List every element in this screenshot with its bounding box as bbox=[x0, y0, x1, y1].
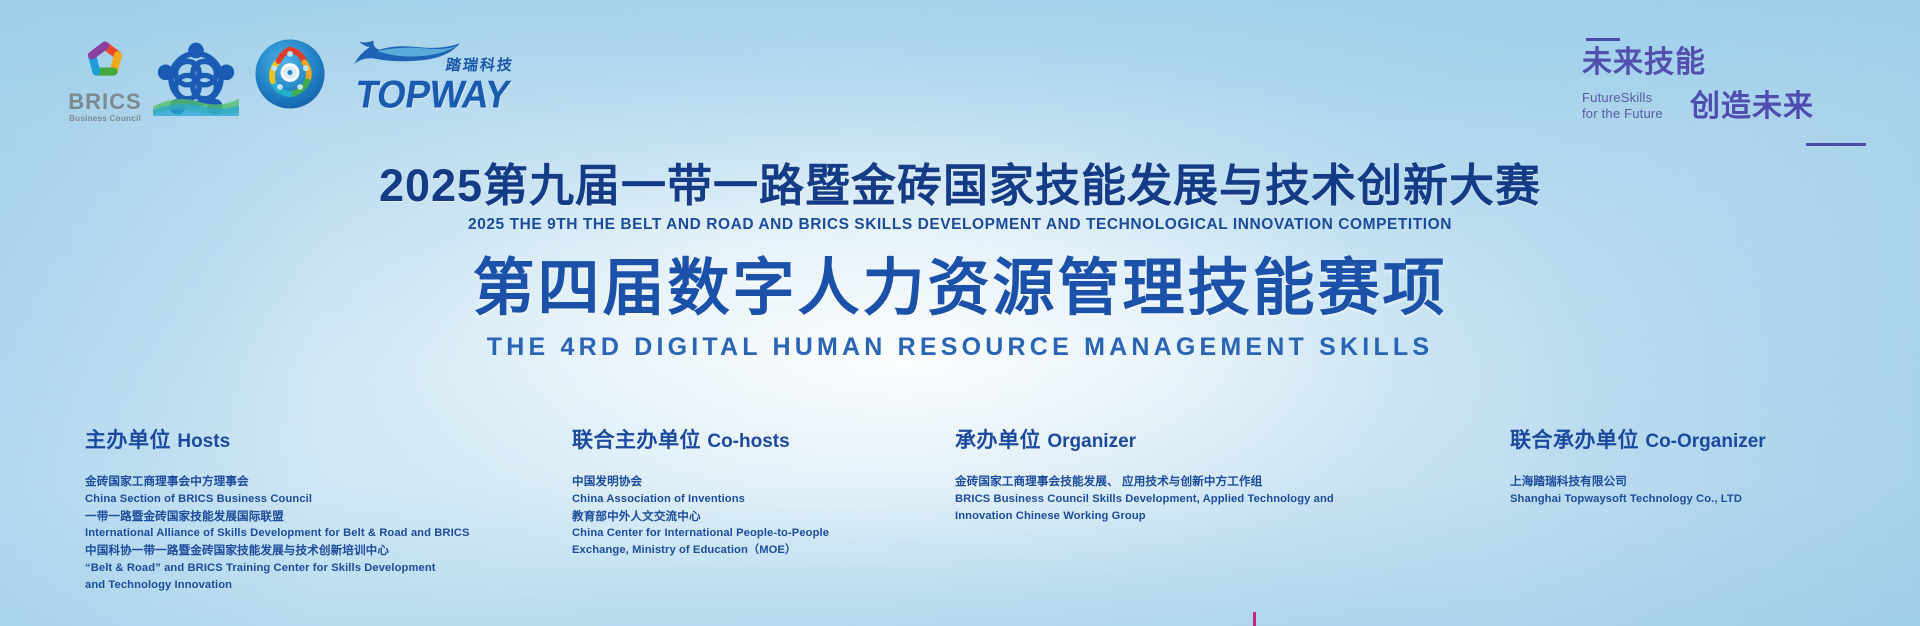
organizer-lines: 金砖国家工商理事会技能发展、 应用技术与创新中方工作组 BRICS Busine… bbox=[955, 473, 1385, 525]
organizer-line: 上海踏瑞科技有限公司 bbox=[1510, 473, 1890, 491]
subtitle-block: 第四届数字人力资源管理技能赛项 THE 4RD DIGITAL HUMAN RE… bbox=[0, 255, 1920, 362]
organizer-heading-en: Co-Organizer bbox=[1645, 431, 1765, 452]
brics-business-council-logo: BRICS Business Council bbox=[68, 38, 142, 123]
organizer-line: Shanghai Topwaysoft Technology Co., LTD bbox=[1510, 491, 1890, 508]
organizer-line: 教育部中外人文交流中心 bbox=[572, 508, 912, 526]
interlocking-rings-emblem-icon bbox=[153, 38, 239, 116]
topway-chinese-name: 踏瑞科技 bbox=[445, 54, 516, 75]
organizer-lines: 金砖国家工商理事会中方理事会 China Section of BRICS Bu… bbox=[85, 473, 545, 594]
brics-subtitle: Business Council bbox=[69, 115, 141, 123]
organizer-line: 金砖国家工商理事会技能发展、 应用技术与创新中方工作组 bbox=[955, 473, 1385, 491]
organizer-line: 金砖国家工商理事会中方理事会 bbox=[85, 473, 545, 491]
slogan-rule-top bbox=[1586, 38, 1620, 41]
main-title-chinese: 2025第九届一带一路暨金砖国家技能发展与技术创新大赛 bbox=[0, 162, 1920, 209]
organizer-line: BRICS Business Council Skills Developmen… bbox=[955, 491, 1385, 508]
organizer-lines: 中国发明协会 China Association of Inventions 教… bbox=[572, 473, 912, 559]
organizer-line: International Alliance of Skills Develop… bbox=[85, 525, 545, 542]
organizer-heading-en: Organizer bbox=[1047, 431, 1136, 452]
slogan-english-line-2: for the Future bbox=[1582, 106, 1663, 122]
slogan-english: FutureSkills for the Future bbox=[1582, 90, 1663, 123]
organizer-heading-en: Co-hosts bbox=[707, 431, 789, 452]
organizer-line: China Center for International People-to… bbox=[572, 525, 912, 542]
skills-alliance-emblem-logo bbox=[250, 38, 330, 110]
topway-wordmark: TOPWAY bbox=[353, 73, 513, 117]
organizer-line: 中国科协一带一路暨金砖国家技能发展与技术创新培训中心 bbox=[85, 542, 545, 560]
organizer-line: China Association of Inventions bbox=[572, 491, 912, 508]
organizer-heading: 联合主办单位 Co-hosts bbox=[572, 430, 912, 451]
organizer-line: and Technology Innovation bbox=[85, 577, 545, 594]
organizer-heading: 承办单位 Organizer bbox=[955, 430, 1385, 451]
brics-star-icon bbox=[78, 38, 132, 90]
competition-banner: BRICS Business Council bbox=[0, 0, 1920, 626]
slogan-chinese-line-2: 创造未来 bbox=[1690, 92, 1814, 122]
organizer-heading: 主办单位 Hosts bbox=[85, 430, 545, 451]
bottom-accent-tick bbox=[1253, 612, 1256, 626]
organizer-line: 一带一路暨金砖国家技能发展国际联盟 bbox=[85, 508, 545, 526]
organizer-heading-cn: 联合主办单位 bbox=[572, 429, 701, 452]
brics-wordmark: BRICS bbox=[68, 91, 141, 113]
main-title-english: 2025 THE 9TH THE BELT AND ROAD AND BRICS… bbox=[0, 216, 1920, 234]
organizer-line: Innovation Chinese Working Group bbox=[955, 508, 1385, 525]
organizer-column-co-hosts: 联合主办单位 Co-hosts 中国发明协会 China Association… bbox=[572, 430, 912, 559]
organizer-lines: 上海踏瑞科技有限公司 Shanghai Topwaysoft Technolog… bbox=[1510, 473, 1890, 508]
invention-association-logo bbox=[152, 38, 240, 116]
organizer-heading-en: Hosts bbox=[177, 431, 230, 452]
logo-row: BRICS Business Council bbox=[68, 38, 516, 130]
organizer-line: China Section of BRICS Business Council bbox=[85, 491, 545, 508]
subtitle-english: THE 4RD DIGITAL HUMAN RESOURCE MANAGEMEN… bbox=[0, 333, 1920, 362]
organizer-column-hosts: 主办单位 Hosts 金砖国家工商理事会中方理事会 China Section … bbox=[85, 430, 545, 594]
organizer-column-organizer: 承办单位 Organizer 金砖国家工商理事会技能发展、 应用技术与创新中方工… bbox=[955, 430, 1385, 525]
organizer-column-co-organizer: 联合承办单位 Co-Organizer 上海踏瑞科技有限公司 Shanghai … bbox=[1510, 430, 1890, 508]
organizer-heading-cn: 主办单位 bbox=[85, 429, 171, 452]
organizer-heading-cn: 联合承办单位 bbox=[1510, 429, 1639, 452]
subtitle-chinese: 第四届数字人力资源管理技能赛项 bbox=[0, 255, 1920, 323]
circular-star-emblem-icon bbox=[254, 38, 326, 110]
main-title-block: 2025第九届一带一路暨金砖国家技能发展与技术创新大赛 2025 THE 9TH… bbox=[0, 162, 1920, 234]
slogan-rule-bottom bbox=[1806, 143, 1866, 146]
organizer-heading-cn: 承办单位 bbox=[955, 429, 1041, 452]
slogan-chinese-line-1: 未来技能 bbox=[1582, 48, 1706, 78]
future-skills-slogan: 未来技能 FutureSkills for the Future 创造未来 bbox=[1572, 34, 1872, 144]
slogan-english-line-1: FutureSkills bbox=[1582, 90, 1663, 106]
organizers-section: 主办单位 Hosts 金砖国家工商理事会中方理事会 China Section … bbox=[0, 430, 1920, 600]
organizer-line: “Belt & Road” and BRICS Training Center … bbox=[85, 560, 545, 577]
organizer-line: Exchange, Ministry of Education（MOE） bbox=[572, 542, 912, 559]
organizer-heading: 联合承办单位 Co-Organizer bbox=[1510, 430, 1890, 451]
organizer-line: 中国发明协会 bbox=[572, 473, 912, 491]
